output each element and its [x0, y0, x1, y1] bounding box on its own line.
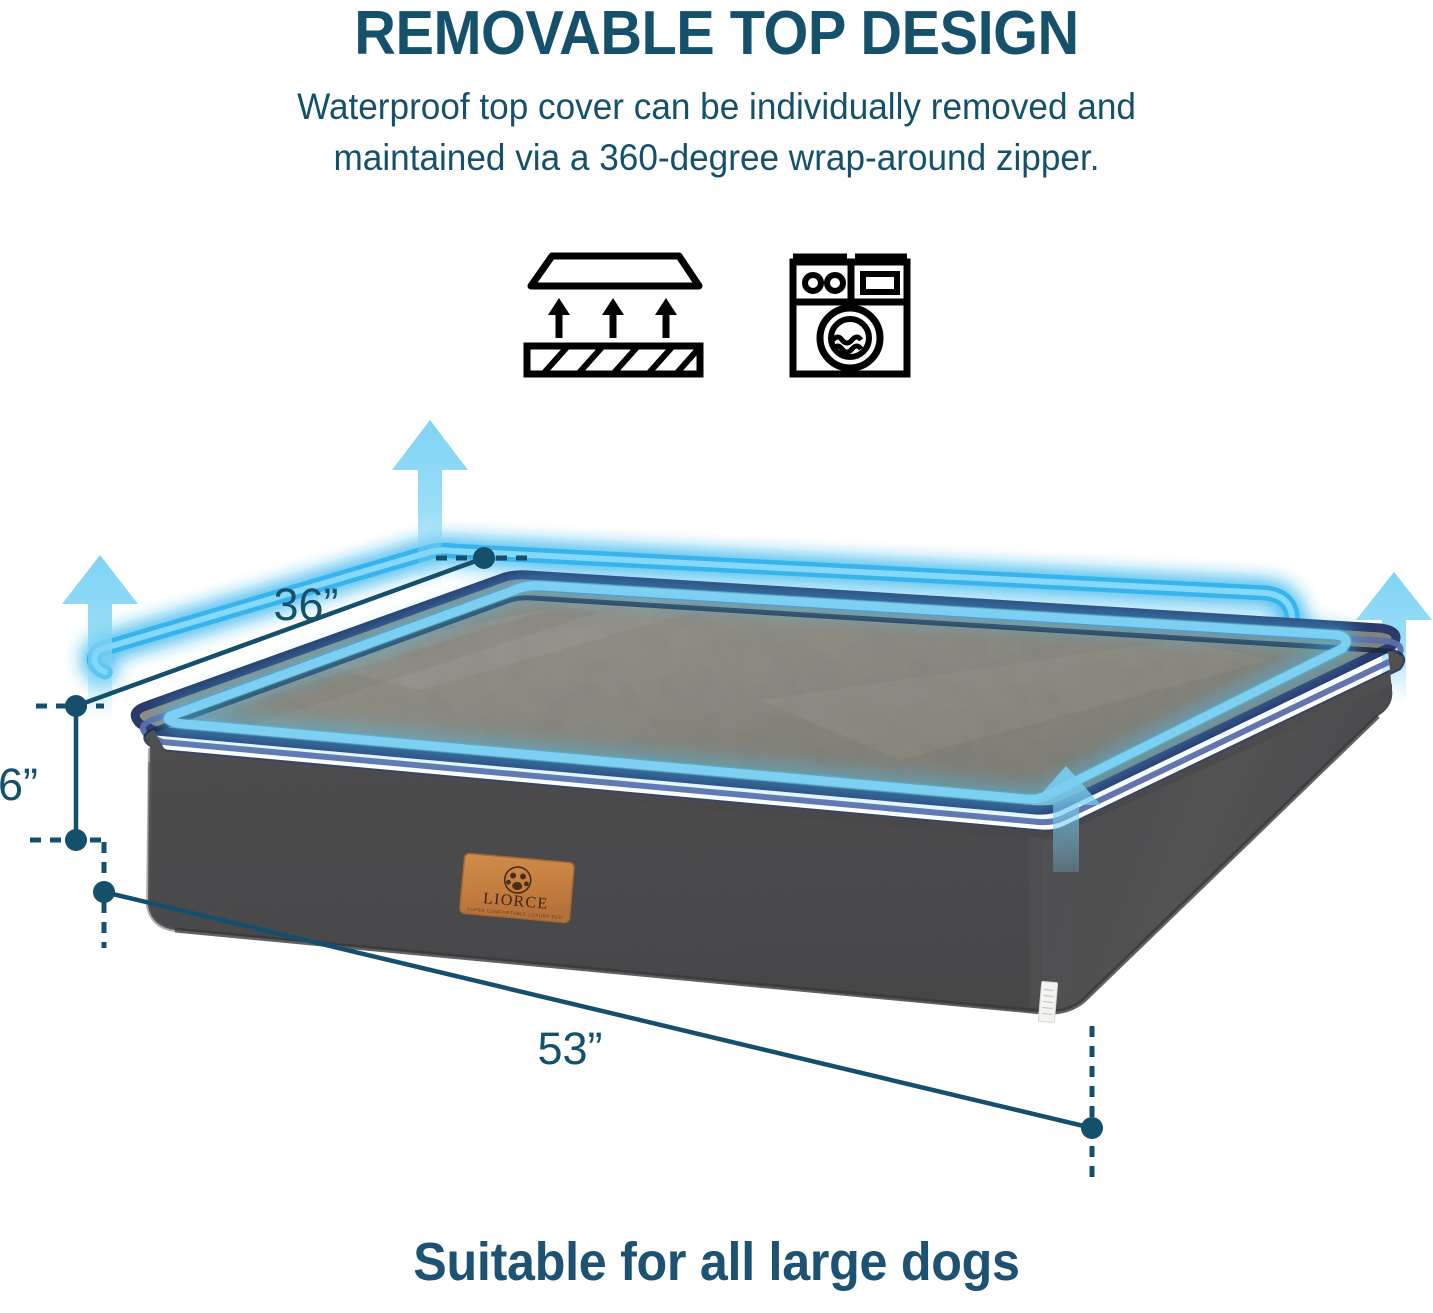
dog-bed: LIORCE SUPER COMFORTABLE LUXURY BED — [135, 575, 1402, 1023]
zipper-piping-outer — [135, 575, 1396, 810]
brand-tagline-text: SUPER COMFORTABLE LUXURY BED — [467, 907, 563, 921]
brand-label-text: LIORCE — [482, 890, 549, 913]
lift-arrow-on-top — [1031, 766, 1101, 872]
care-tag — [1038, 981, 1057, 1022]
lift-arrow-left — [62, 555, 138, 718]
removable-top-layer-icon — [521, 248, 707, 383]
dimension-label-depth: 36” — [273, 579, 338, 630]
floating-cover-glow-outline — [94, 550, 1296, 672]
lift-arrow-right — [1356, 572, 1432, 700]
lift-arrow-center-top — [392, 420, 468, 588]
bed-side-panel — [146, 651, 1403, 1012]
dimension-label-height: 6” — [0, 759, 38, 810]
feature-icons-row — [0, 248, 1433, 383]
dimension-label-width: 53” — [537, 1023, 602, 1074]
zipper-piping-highlight — [143, 588, 1401, 822]
dimension-height — [30, 706, 106, 851]
page-title: REMOVABLE TOP DESIGN — [50, 0, 1383, 65]
subtitle-line-2: maintained via a 360-degree wrap-around … — [36, 132, 1397, 183]
washing-machine-icon — [785, 248, 913, 383]
bed-top-surface — [135, 575, 1396, 810]
dimension-annotations: 36” 6” 53” — [0, 547, 1103, 1186]
footer: Suitable for all large dogs — [0, 1231, 1433, 1293]
page-subtitle: Waterproof top cover can be individually… — [36, 81, 1397, 183]
header: REMOVABLE TOP DESIGN Waterproof top cove… — [0, 0, 1433, 183]
dimension-depth — [36, 547, 534, 717]
dimension-width — [93, 842, 1103, 1186]
zipper-teeth-line — [146, 598, 1403, 832]
brand-label: LIORCE SUPER COMFORTABLE LUXURY BED — [460, 853, 575, 923]
product-illustration: LIORCE SUPER COMFORTABLE LUXURY BED — [0, 0, 1433, 1313]
zipper-glow-trace — [168, 586, 1346, 799]
subtitle-line-1: Waterproof top cover can be individually… — [36, 81, 1397, 132]
infographic-canvas: REMOVABLE TOP DESIGN Waterproof top cove… — [0, 0, 1433, 1313]
footer-text: Suitable for all large dogs — [50, 1231, 1383, 1293]
